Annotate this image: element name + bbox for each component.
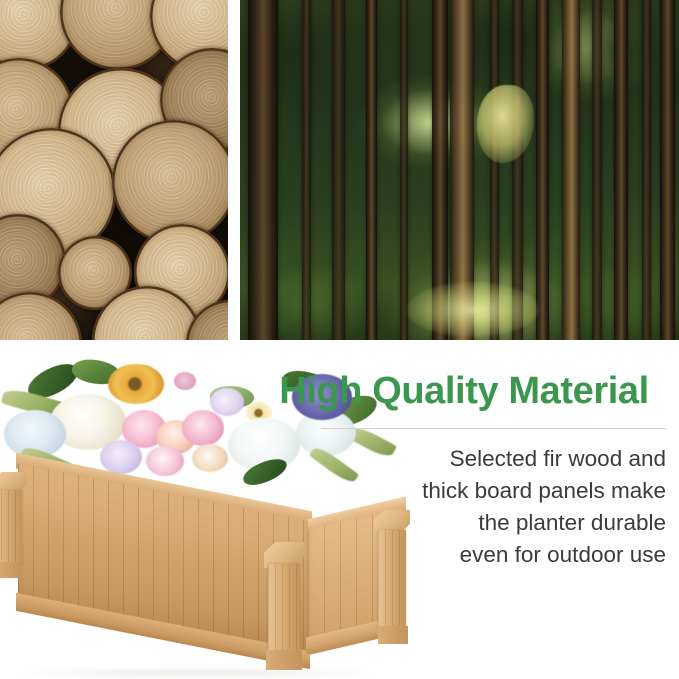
tree-trunk bbox=[400, 0, 408, 340]
planter-foot bbox=[378, 626, 408, 644]
flower-lavender bbox=[210, 388, 244, 416]
tree-trunk bbox=[614, 0, 628, 340]
page-title: High Quality Material bbox=[262, 372, 666, 412]
content-section: High Quality Material Selected fir wood … bbox=[0, 340, 679, 679]
ground-shadow bbox=[14, 668, 384, 678]
tree-trunk bbox=[592, 0, 602, 340]
planter-foot bbox=[266, 650, 302, 670]
tree-trunk bbox=[642, 0, 651, 340]
body-description: Selected fir wood and thick board panels… bbox=[262, 443, 666, 571]
marketing-image-page: High Quality Material Selected fir wood … bbox=[0, 0, 679, 679]
planter-foot bbox=[0, 562, 20, 578]
planter-corner-post bbox=[0, 490, 22, 564]
tree-trunk bbox=[332, 0, 345, 340]
flower-sunflower bbox=[108, 364, 164, 404]
tree-trunk bbox=[366, 0, 377, 340]
planter-corner-post bbox=[268, 564, 300, 652]
tree-trunk bbox=[562, 0, 580, 340]
tree-trunk bbox=[536, 0, 549, 340]
stacked-cut-logs-photo bbox=[0, 0, 228, 340]
flower-rose-pink bbox=[182, 410, 224, 446]
text-block: High Quality Material Selected fir wood … bbox=[262, 372, 666, 571]
photo-strip bbox=[0, 0, 679, 340]
sunlit-forest-floor bbox=[407, 282, 539, 336]
tree-trunk bbox=[248, 0, 278, 340]
conifer-forest-photo bbox=[240, 0, 679, 340]
flower-bud-pink bbox=[174, 372, 196, 390]
tree-trunk bbox=[660, 0, 675, 340]
divider-rule bbox=[321, 428, 666, 429]
tree-trunk bbox=[302, 0, 311, 340]
